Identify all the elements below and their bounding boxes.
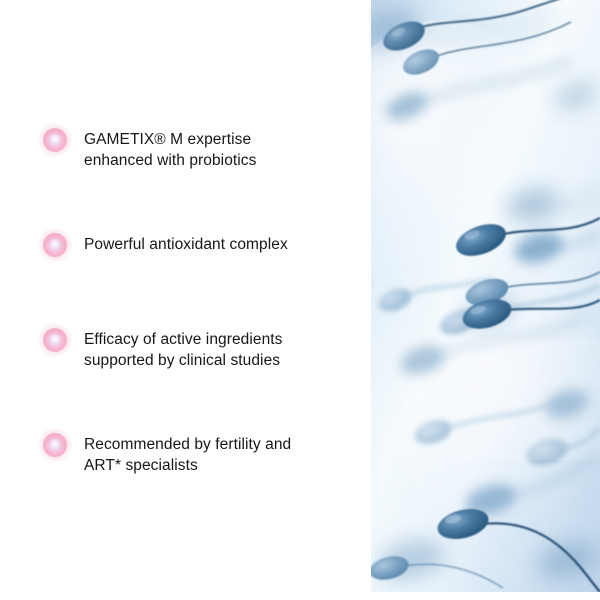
benefit-label: Powerful antioxidant complex [84,233,288,255]
promo-benefits-page: GAMETIX® M expertise enhanced with probi… [0,0,600,600]
sperm-cells-photo [371,0,600,592]
benefit-item: Efficacy of active ingredients supported… [38,328,338,371]
benefit-label: GAMETIX® M expertise enhanced with probi… [84,128,256,171]
benefit-label: Efficacy of active ingredients supported… [84,328,282,371]
bullet-core [50,239,60,250]
bullet-core [50,334,60,345]
pink-dot-bullet-icon [38,123,72,157]
bullet-core [50,134,60,145]
pink-dot-bullet-icon [38,228,72,262]
benefit-label: Recommended by fertility and ART* specia… [84,433,291,476]
bullet-core [50,439,60,450]
pink-dot-bullet-icon [38,323,72,357]
sperm-cells-illustration [371,0,600,592]
benefit-item: GAMETIX® M expertise enhanced with probi… [38,128,338,171]
benefits-panel: GAMETIX® M expertise enhanced with probi… [0,0,371,600]
benefit-item: Recommended by fertility and ART* specia… [38,433,338,476]
benefit-item: Powerful antioxidant complex [38,233,338,262]
pink-dot-bullet-icon [38,428,72,462]
